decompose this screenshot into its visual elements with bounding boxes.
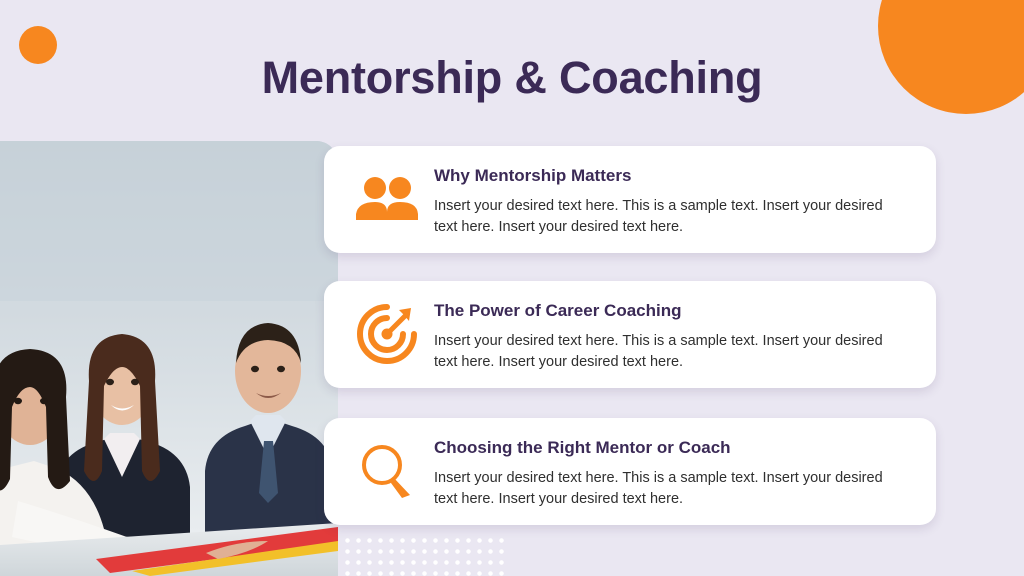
card-title: The Power of Career Coaching — [434, 301, 914, 321]
page-title: Mentorship & Coaching — [0, 52, 1024, 104]
card-title: Why Mentorship Matters — [434, 166, 914, 186]
dot-grid-decoration — [340, 533, 506, 576]
card-why-mentorship-matters[interactable]: Why Mentorship Matters Insert your desir… — [324, 146, 936, 253]
card-content: Choosing the Right Mentor or Coach Inser… — [430, 434, 914, 510]
business-meeting-photo — [0, 141, 338, 576]
card-title: Choosing the Right Mentor or Coach — [434, 438, 914, 458]
two-people-icon — [344, 162, 430, 236]
slide-canvas: Mentorship & Coaching — [0, 0, 1024, 576]
target-arrow-icon — [344, 297, 430, 371]
card-text: Insert your desired text here. This is a… — [434, 331, 904, 373]
card-power-of-career-coaching[interactable]: The Power of Career Coaching Insert your… — [324, 281, 936, 388]
card-content: Why Mentorship Matters Insert your desir… — [430, 162, 914, 238]
card-text: Insert your desired text here. This is a… — [434, 468, 904, 510]
magnifying-glass-icon — [344, 434, 430, 508]
card-text: Insert your desired text here. This is a… — [434, 196, 904, 238]
card-choosing-right-mentor[interactable]: Choosing the Right Mentor or Coach Inser… — [324, 418, 936, 525]
card-content: The Power of Career Coaching Insert your… — [430, 297, 914, 373]
